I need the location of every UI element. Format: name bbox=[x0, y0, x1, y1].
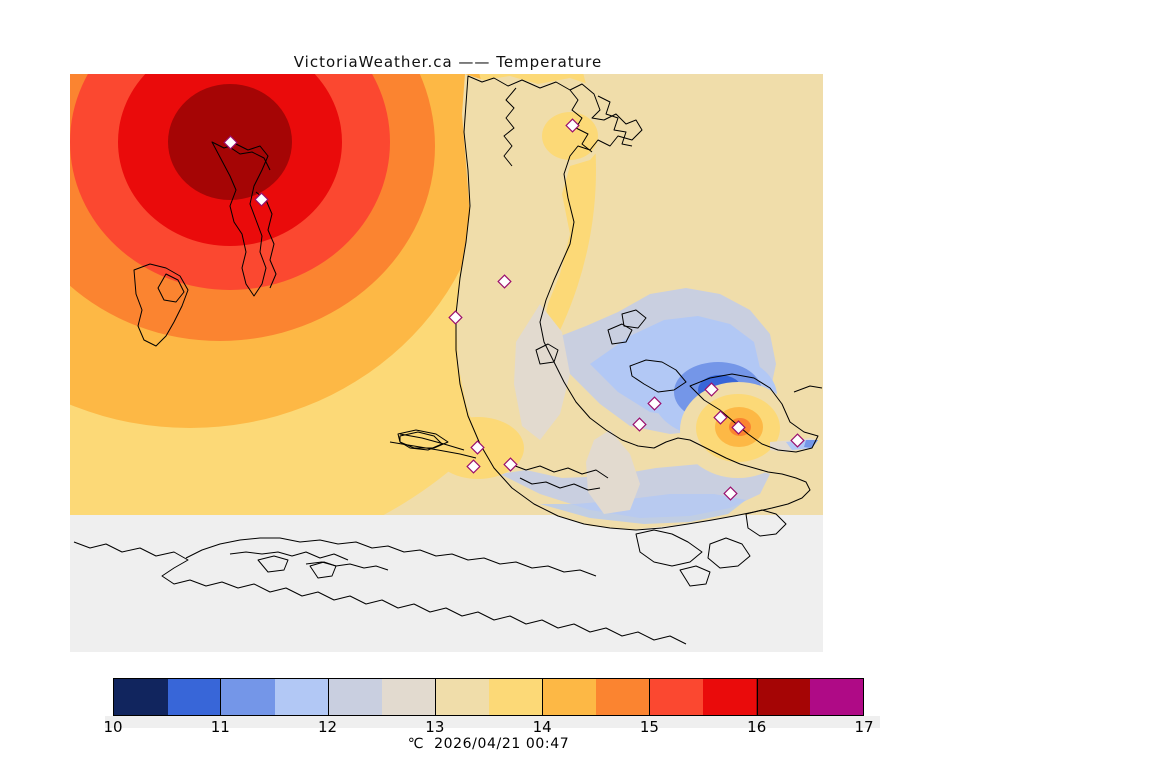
colorbar-tick-label: 16 bbox=[747, 718, 766, 736]
colorbar-tick-label: 17 bbox=[854, 718, 873, 736]
temperature-map-panel[interactable] bbox=[70, 74, 823, 652]
colorbar-tick-label: 14 bbox=[533, 718, 552, 736]
colorbar-tick bbox=[435, 678, 436, 716]
map-canvas bbox=[70, 74, 823, 652]
colorbar-cell[interactable] bbox=[114, 679, 168, 715]
colorbar-cell[interactable] bbox=[168, 679, 222, 715]
colorbar-tick-label: 15 bbox=[640, 718, 659, 736]
colorbar-cell[interactable] bbox=[435, 679, 489, 715]
page-title: VictoriaWeather.ca —— Temperature bbox=[0, 53, 896, 71]
colorbar-tick bbox=[220, 678, 221, 716]
colorbar-cell[interactable] bbox=[221, 679, 275, 715]
colorbar-tick bbox=[542, 678, 543, 716]
colorbar-tick-label: 12 bbox=[318, 718, 337, 736]
colorbar-cell[interactable] bbox=[489, 679, 543, 715]
colorbar-tick-label: 11 bbox=[211, 718, 230, 736]
colorbar-cell[interactable] bbox=[649, 679, 703, 715]
colorbar-strip[interactable] bbox=[113, 678, 864, 716]
colorbar[interactable]: 1011121314151617 ℃ 2026/04/21 00:47 bbox=[113, 678, 864, 740]
colorbar-tick bbox=[649, 678, 650, 716]
colorbar-tick-label: 13 bbox=[425, 718, 444, 736]
colorbar-cell[interactable] bbox=[382, 679, 436, 715]
colorbar-cell[interactable] bbox=[542, 679, 596, 715]
colorbar-caption: ℃ 2026/04/21 00:47 bbox=[113, 736, 864, 752]
colorbar-tick bbox=[328, 678, 329, 716]
colorbar-cell[interactable] bbox=[756, 679, 810, 715]
colorbar-cell[interactable] bbox=[275, 679, 329, 715]
colorbar-tick-label: 10 bbox=[103, 718, 122, 736]
colorbar-cell[interactable] bbox=[810, 679, 864, 715]
colorbar-tick bbox=[757, 678, 758, 716]
colorbar-cell[interactable] bbox=[596, 679, 650, 715]
colorbar-cell[interactable] bbox=[703, 679, 757, 715]
colorbar-cell[interactable] bbox=[328, 679, 382, 715]
